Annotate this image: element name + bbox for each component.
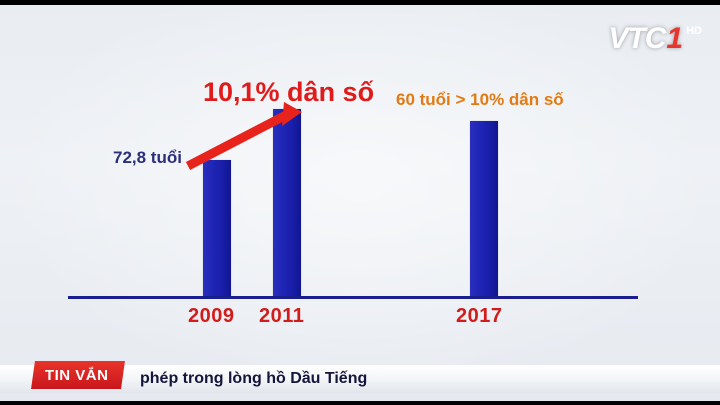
- category-label-2017: 2017: [456, 305, 503, 328]
- channel-logo-text: VTC: [608, 22, 665, 56]
- channel-logo-number: 1: [666, 22, 683, 56]
- category-label-2009: 2009: [188, 305, 235, 328]
- category-label-2011: 2011: [259, 305, 304, 328]
- bar-chart: 2009 2011 2017 72,8 tuổi 10,1% dân số 60…: [0, 5, 720, 401]
- letterbox-bottom: [0, 401, 720, 405]
- bar-2017: [470, 121, 498, 296]
- channel-logo-hd: HD: [686, 25, 702, 37]
- ticker-headline: phép trong lòng hồ Dầu Tiếng: [140, 366, 367, 392]
- ticker-tag-label: TIN VẮN: [45, 367, 109, 384]
- news-ticker: TIN VẮN phép trong lòng hồ Dầu Tiếng: [0, 357, 720, 401]
- ticker-tag: TIN VẮN: [31, 361, 124, 389]
- letterbox-top: [0, 0, 720, 5]
- chart-axis-line: [68, 296, 638, 299]
- tv-screenshot: 2009 2011 2017 72,8 tuổi 10,1% dân số 60…: [0, 0, 720, 405]
- bar-2009: [203, 160, 231, 296]
- annotation-elderly-share-2017: 60 tuổi > 10% dân số: [396, 90, 564, 110]
- news-graphic-slide: 2009 2011 2017 72,8 tuổi 10,1% dân số 60…: [0, 5, 720, 401]
- channel-logo: VTC 1 HD: [608, 19, 702, 59]
- growth-arrow-icon: [180, 100, 310, 175]
- annotation-life-expectancy: 72,8 tuổi: [113, 148, 182, 168]
